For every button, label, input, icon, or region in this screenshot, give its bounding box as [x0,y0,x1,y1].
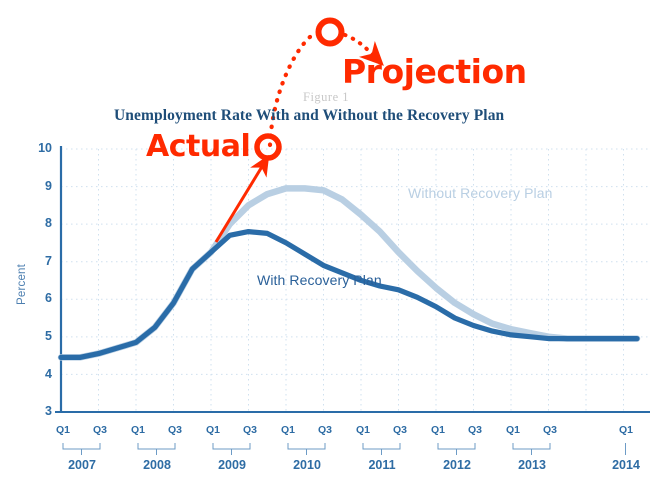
x-tick-quarter-12: Q1 [498,424,528,436]
y-tick-4: 4 [22,367,52,381]
projection-circle-marker [319,21,342,44]
annotation-actual-label: Actual [146,129,250,164]
x-tick-year-2012: 2012 [432,458,482,472]
series-line-with-recovery-plan [61,232,637,358]
x-tick-quarter-6: Q1 [273,424,303,436]
y-tick-8: 8 [22,216,52,230]
x-tick-year-2011: 2011 [357,458,407,472]
x-tick-year-2014: 2014 [601,458,651,472]
x-tick-quarter-5: Q3 [235,424,265,436]
x-tick-quarter-9: Q3 [385,424,415,436]
x-tick-quarter-13: Q3 [535,424,565,436]
x-tick-year-2013: 2013 [507,458,557,472]
x-tick-quarter-7: Q3 [310,424,340,436]
series-label-with-recovery-plan: With Recovery Plan [257,272,382,288]
x-tick-year-2007: 2007 [57,458,107,472]
y-tick-3: 3 [22,404,52,418]
x-tick-quarter-1: Q3 [85,424,115,436]
annotation-projection-label: Projection [342,52,527,91]
y-tick-5: 5 [22,329,52,343]
figure-number: Figure 1 [303,90,349,105]
figure-root: Figure 1 Unemployment Rate With and With… [0,0,670,492]
y-tick-10: 10 [22,141,52,155]
x-tick-quarter-2: Q1 [123,424,153,436]
x-tick-quarter-0: Q1 [48,424,78,436]
x-tick-year-2009: 2009 [207,458,257,472]
x-tick-quarter-10: Q1 [423,424,453,436]
projection-dotted-arc-left [270,33,315,145]
actual-circle-marker [257,136,279,158]
x-tick-year-2008: 2008 [132,458,182,472]
chart-canvas [0,0,670,492]
x-tick-quarter-11: Q3 [460,424,490,436]
x-tick-quarter-3: Q3 [160,424,190,436]
year-brackets [63,443,626,455]
x-tick-quarter-14: Q1 [611,424,641,436]
y-tick-7: 7 [22,254,52,268]
x-tick-year-2010: 2010 [282,458,332,472]
y-tick-9: 9 [22,179,52,193]
x-tick-quarter-4: Q1 [198,424,228,436]
x-tick-quarter-8: Q1 [348,424,378,436]
page-title: Unemployment Rate With and Without the R… [114,107,504,125]
y-tick-6: 6 [22,291,52,305]
series-label-without-recovery-plan: Without Recovery Plan [408,185,553,201]
